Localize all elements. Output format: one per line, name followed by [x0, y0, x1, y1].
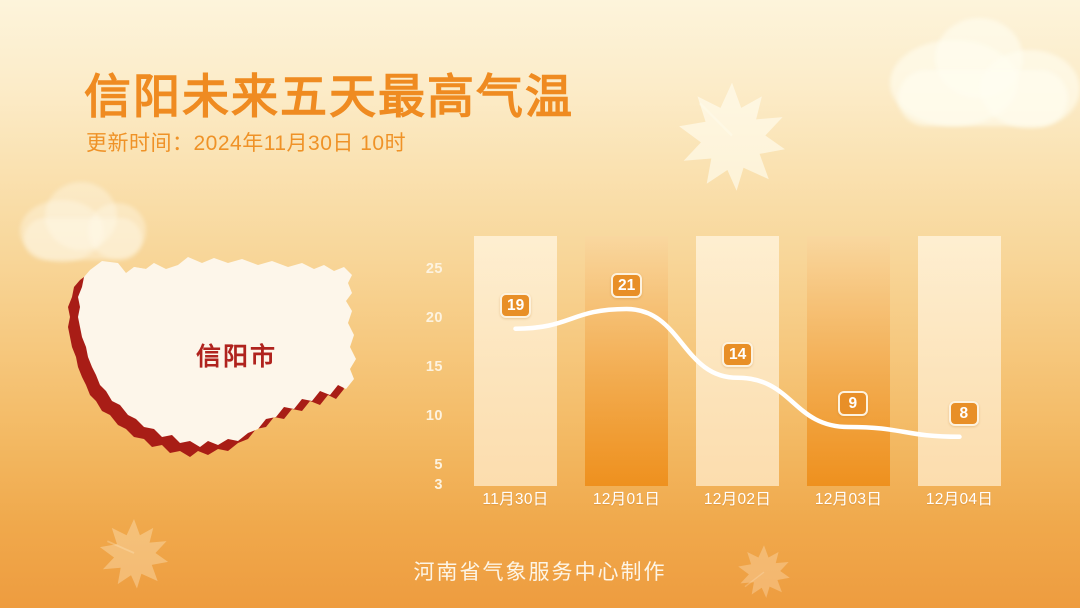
- page-title: 信阳未来五天最高气温: [84, 58, 574, 127]
- weather-infographic: 信阳未来五天最高气温 更新时间：2024年11月30日 10时 信阳市 2520…: [0, 0, 1080, 608]
- temperature-chart: 2520151053 11月30日12月01日12月02日12月03日12月04…: [415, 236, 1025, 512]
- value-badge-5: 8: [949, 401, 979, 426]
- map-region-label: 信阳市: [196, 337, 277, 373]
- value-badge-3: 14: [722, 342, 753, 367]
- value-badge-1: 19: [500, 293, 531, 318]
- footer-credit: 河南省气象服务中心制作: [0, 556, 1080, 586]
- value-badge-4: 9: [838, 391, 868, 416]
- value-badge-2: 21: [611, 273, 642, 298]
- update-time-label: 更新时间：2024年11月30日 10时: [86, 127, 406, 157]
- temperature-line: [415, 236, 1025, 512]
- maple-leaf-top-icon: [672, 78, 792, 193]
